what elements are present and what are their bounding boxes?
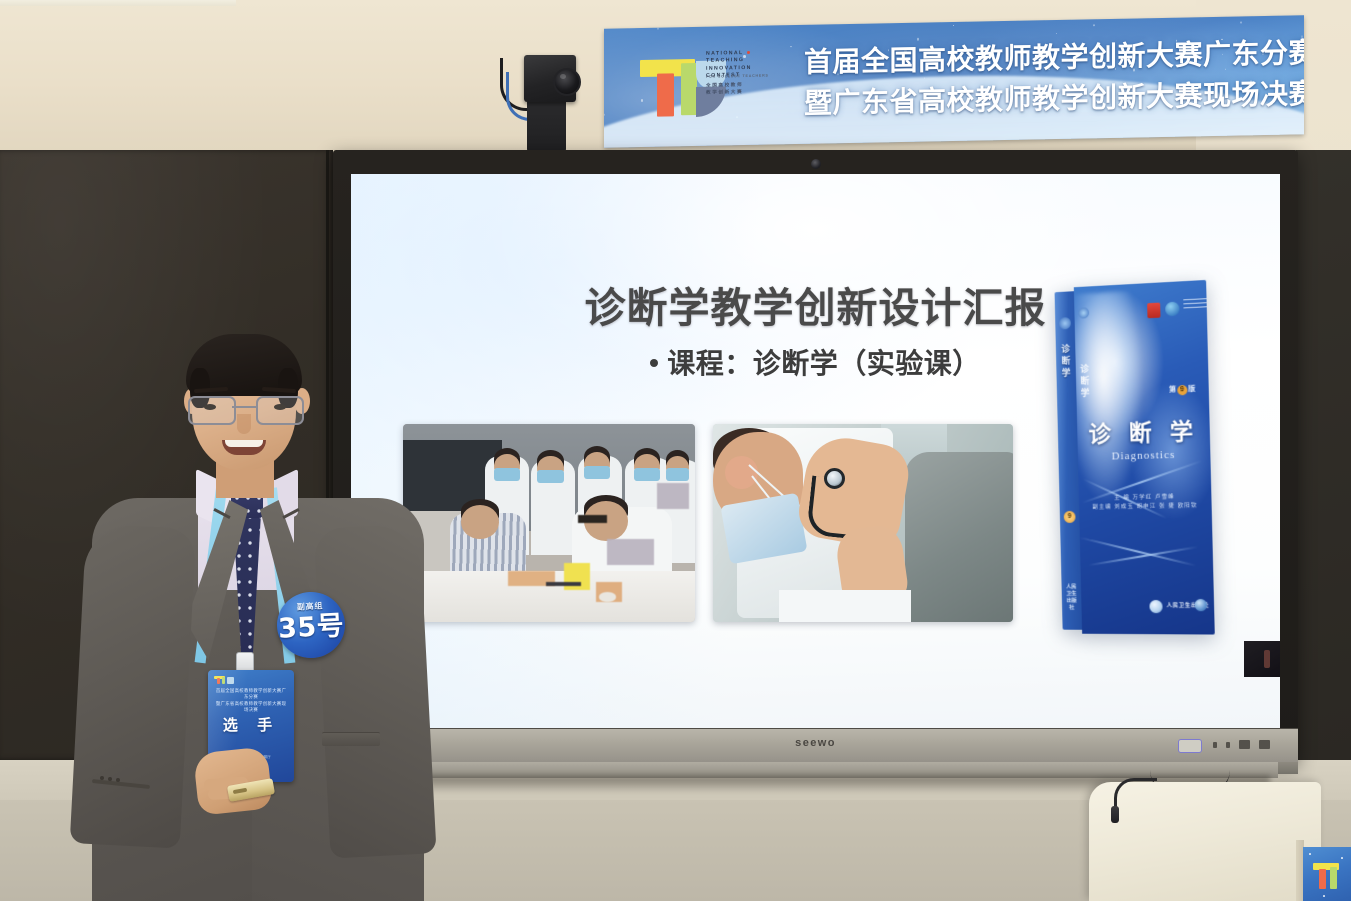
- bullet-icon: [650, 359, 658, 367]
- book-top-logos: [1148, 298, 1202, 339]
- display-brand-label: seewo: [795, 737, 836, 749]
- presenter-figure: 副高组 35号 首届全国高校教师教学创新大赛广东分赛暨广东省高校教师教学创新大赛…: [70, 330, 440, 901]
- book-spine-edition: 9: [1064, 511, 1076, 523]
- tic-poster: [1303, 847, 1351, 901]
- slide-bullet-text: 课程：诊断学（实验课）: [667, 347, 981, 380]
- display-ports[interactable]: [1213, 740, 1270, 749]
- gooseneck-microphone-icon: [1114, 778, 1157, 815]
- book-spine-publisher: 人民卫生出版社: [1064, 584, 1078, 612]
- suit-sleeve-left: [70, 523, 197, 848]
- camera-lens-icon: [553, 68, 581, 96]
- interactive-whiteboard[interactable]: 诊断学教学创新设计汇报 课程：诊断学（实验课）: [333, 150, 1298, 762]
- power-button[interactable]: [1178, 739, 1202, 753]
- blackboard-panel-right: [1296, 150, 1351, 760]
- book-title-cn: 诊 断 学: [1077, 411, 1210, 449]
- card-tic-logo-icon: [214, 675, 236, 684]
- badge-number: 35号: [276, 610, 346, 646]
- book-cover-side-title: 诊断学: [1080, 363, 1091, 399]
- book-edition-badge: 第9版: [1169, 383, 1196, 395]
- display-camera-icon: [811, 159, 821, 169]
- screen-corner-sensor: [1244, 641, 1280, 677]
- book-spine-title: 诊断学: [1059, 343, 1073, 379]
- tic-logo-chinese-text: 全国高校教师教学创新大赛: [706, 81, 772, 95]
- card-header-text: 首届全国高校教师教学创新大赛广东分赛暨广东省高校教师教学创新大赛现场决赛: [214, 688, 288, 714]
- lectern-top-edge: [0, 0, 236, 6]
- book-editors: 主 编 万学红 卢雪峰 副主编 刘成玉 胡申江 张 捷 欧阳钦: [1079, 493, 1212, 513]
- screenshot-root: NATIONALTEACHINGINNOVATIONCONTEST FOR CO…: [0, 0, 1351, 901]
- book-title-en: Diagnostics: [1078, 448, 1211, 463]
- photo-ward-teaching: [403, 424, 695, 622]
- suit-sleeve-right: [313, 523, 436, 858]
- hair: [186, 334, 302, 396]
- card-role-label: 选 手: [208, 714, 294, 735]
- competition-banner: NATIONALTEACHINGINNOVATIONCONTEST FOR CO…: [604, 15, 1304, 147]
- display-screen[interactable]: 诊断学教学创新设计汇报 课程：诊断学（实验课）: [351, 174, 1280, 729]
- camera-mount-plate: [527, 98, 566, 151]
- display-bezel-bottom: seewo: [333, 728, 1298, 762]
- book-front-cover: 诊断学 第9版 诊 断 学 Diagnostics 主 编 万学红 卢雪峰 副主…: [1074, 280, 1215, 635]
- banner-text-block: 首届全国高校教师教学创新大赛广东分赛 暨广东省高校教师教学创新大赛现场决赛: [804, 32, 1298, 123]
- publisher-logo-icon: [1150, 600, 1163, 613]
- jacket-pocket: [322, 732, 380, 746]
- nose: [237, 414, 251, 434]
- photo-physical-exam: [713, 424, 1013, 622]
- microphone-head-icon: [1111, 806, 1119, 823]
- book-editor-line-2: 副主编 刘成玉 胡申江 张 捷 欧阳钦: [1079, 502, 1212, 513]
- textbook-cover: 诊断学 9 人民卫生出版社 诊断学: [1054, 280, 1214, 635]
